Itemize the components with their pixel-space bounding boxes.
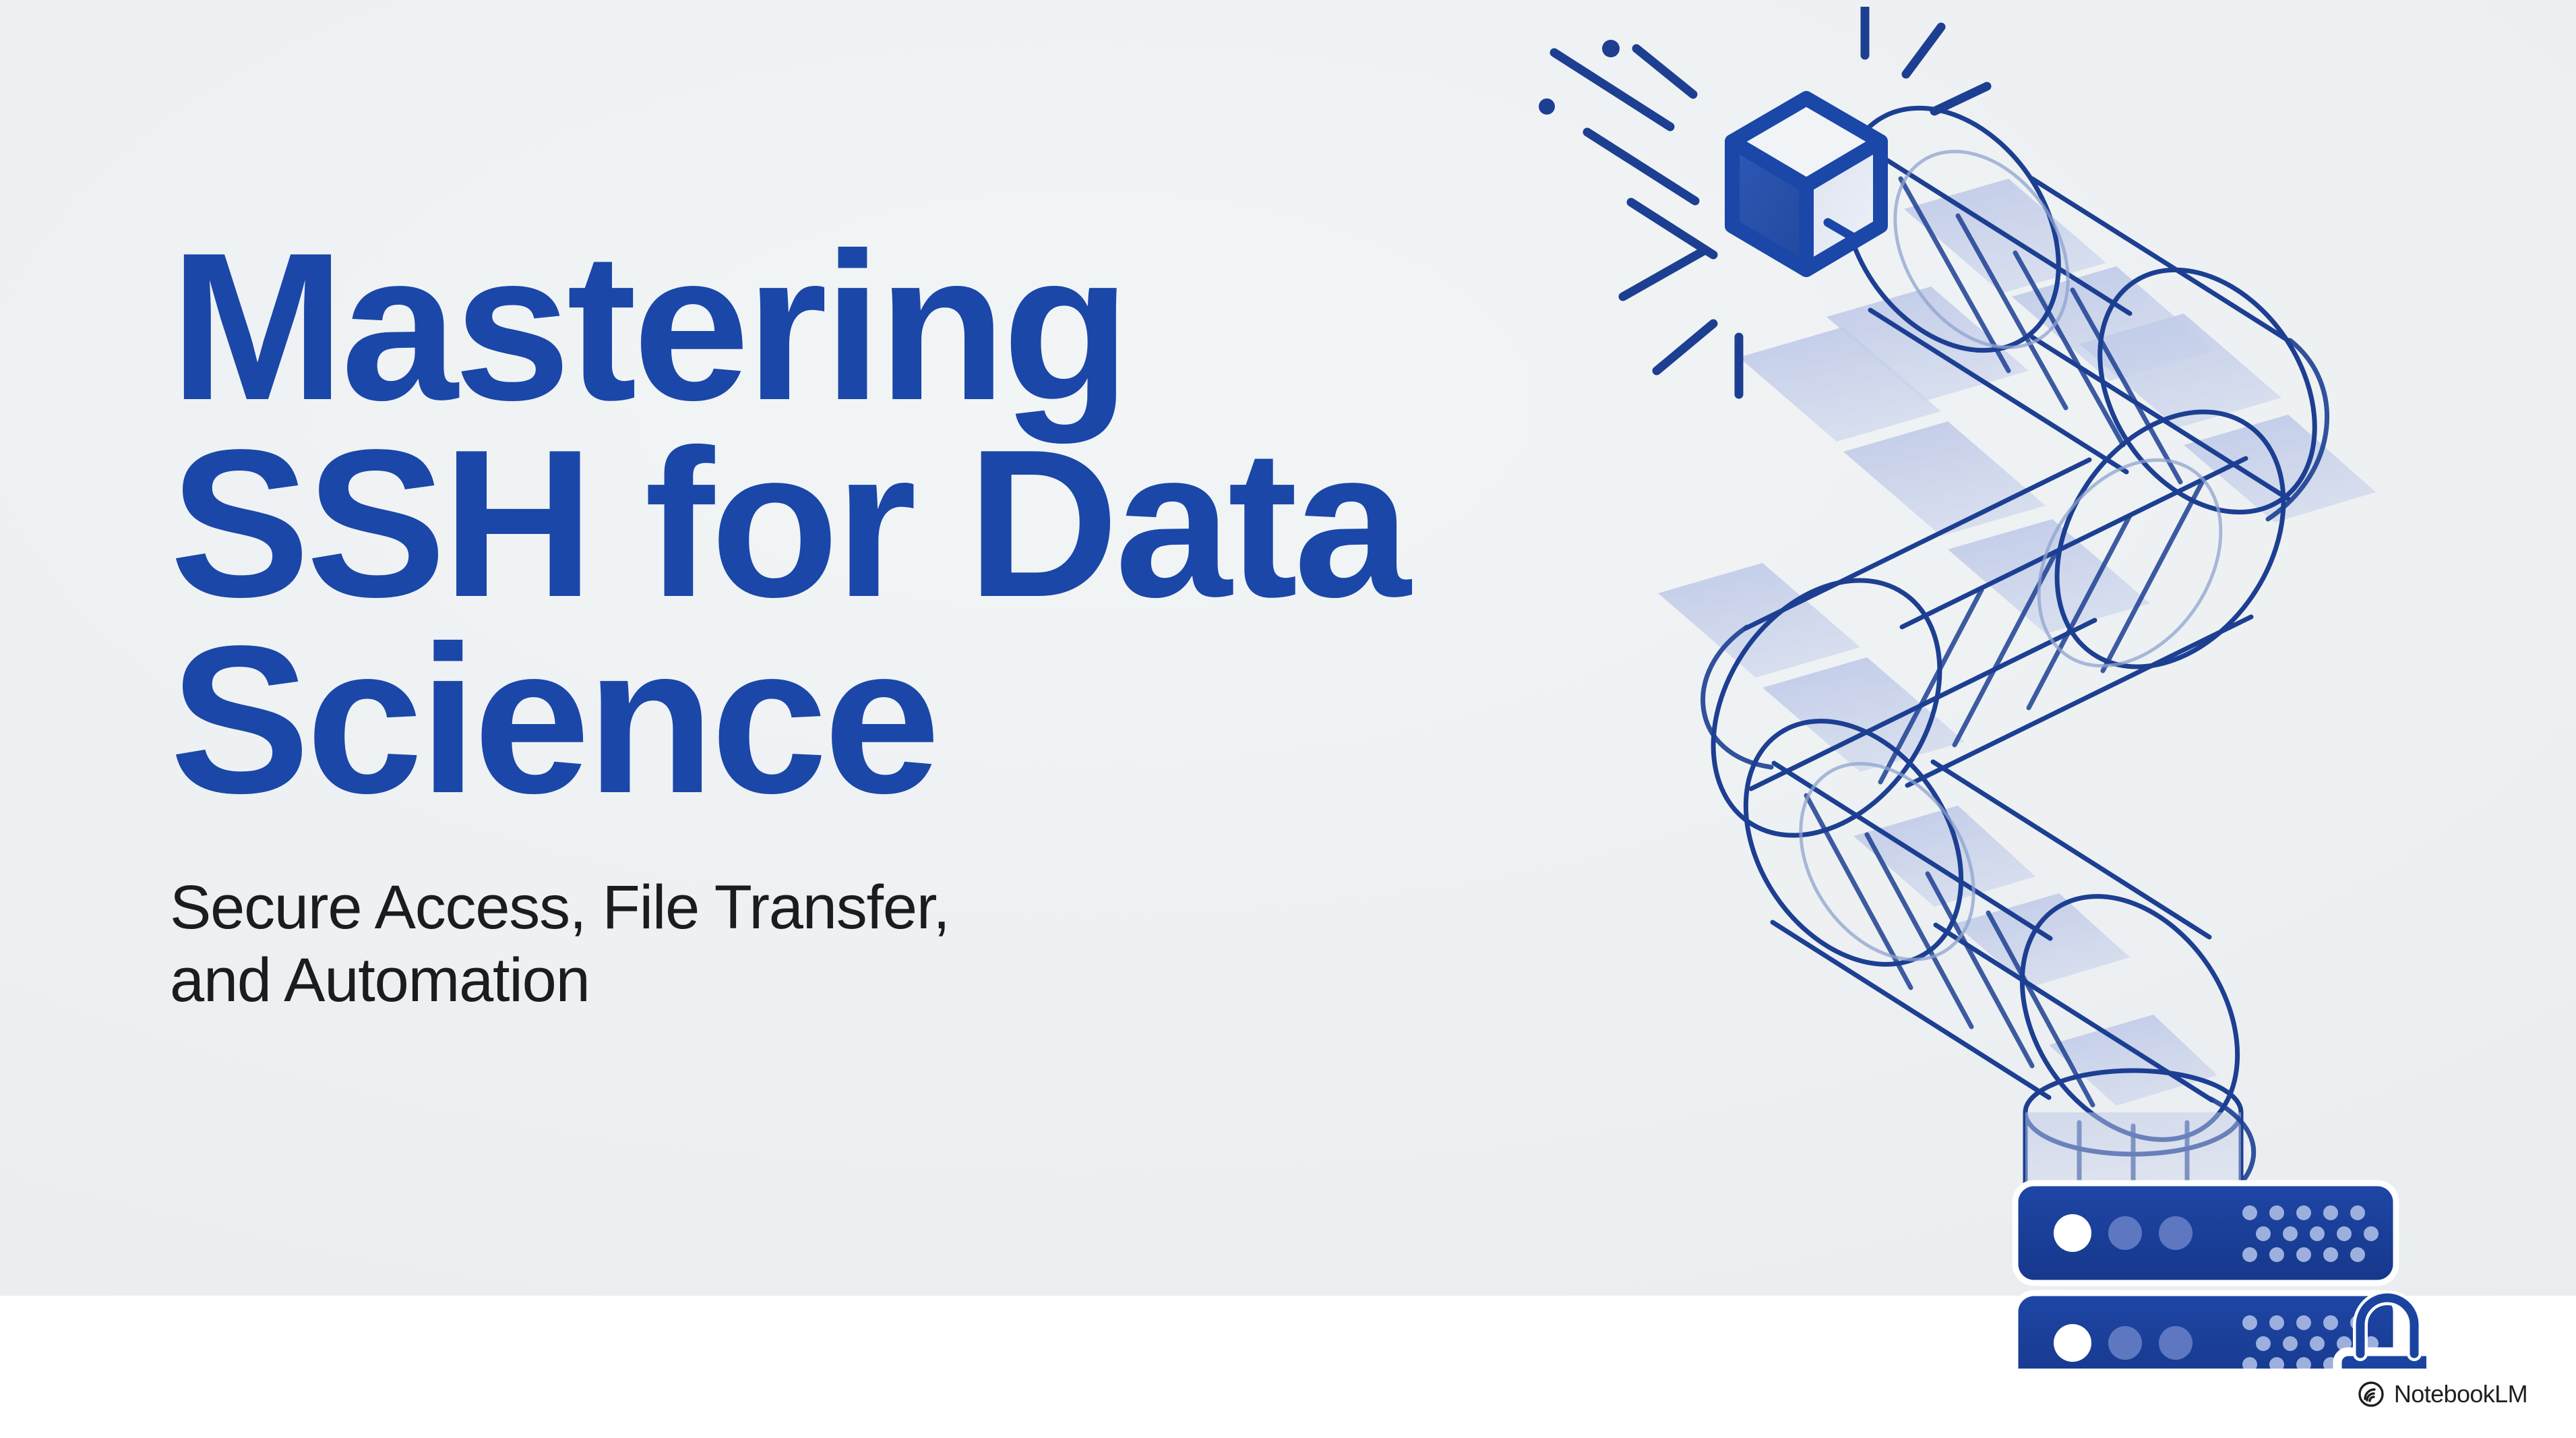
page-title: Mastering SSH for Data Science — [170, 229, 1552, 819]
server-stack-icon — [2015, 1183, 2396, 1369]
notebooklm-logo-icon — [2358, 1381, 2385, 1408]
slide-canvas: Mastering SSH for Data Science Secure Ac… — [0, 0, 2576, 1438]
notebooklm-brand: NotebookLM — [2358, 1381, 2527, 1408]
isometric-ssh-tunnel-illustration — [1537, 7, 2426, 1369]
notebooklm-brand-name: NotebookLM — [2394, 1382, 2527, 1406]
sparkle-cube-icon — [1732, 98, 1880, 270]
page-subtitle: Secure Access, File Transfer, and Automa… — [170, 819, 1552, 1017]
server-rack-1 — [2015, 1183, 2396, 1283]
title-block: Mastering SSH for Data Science Secure Ac… — [170, 229, 1552, 1017]
